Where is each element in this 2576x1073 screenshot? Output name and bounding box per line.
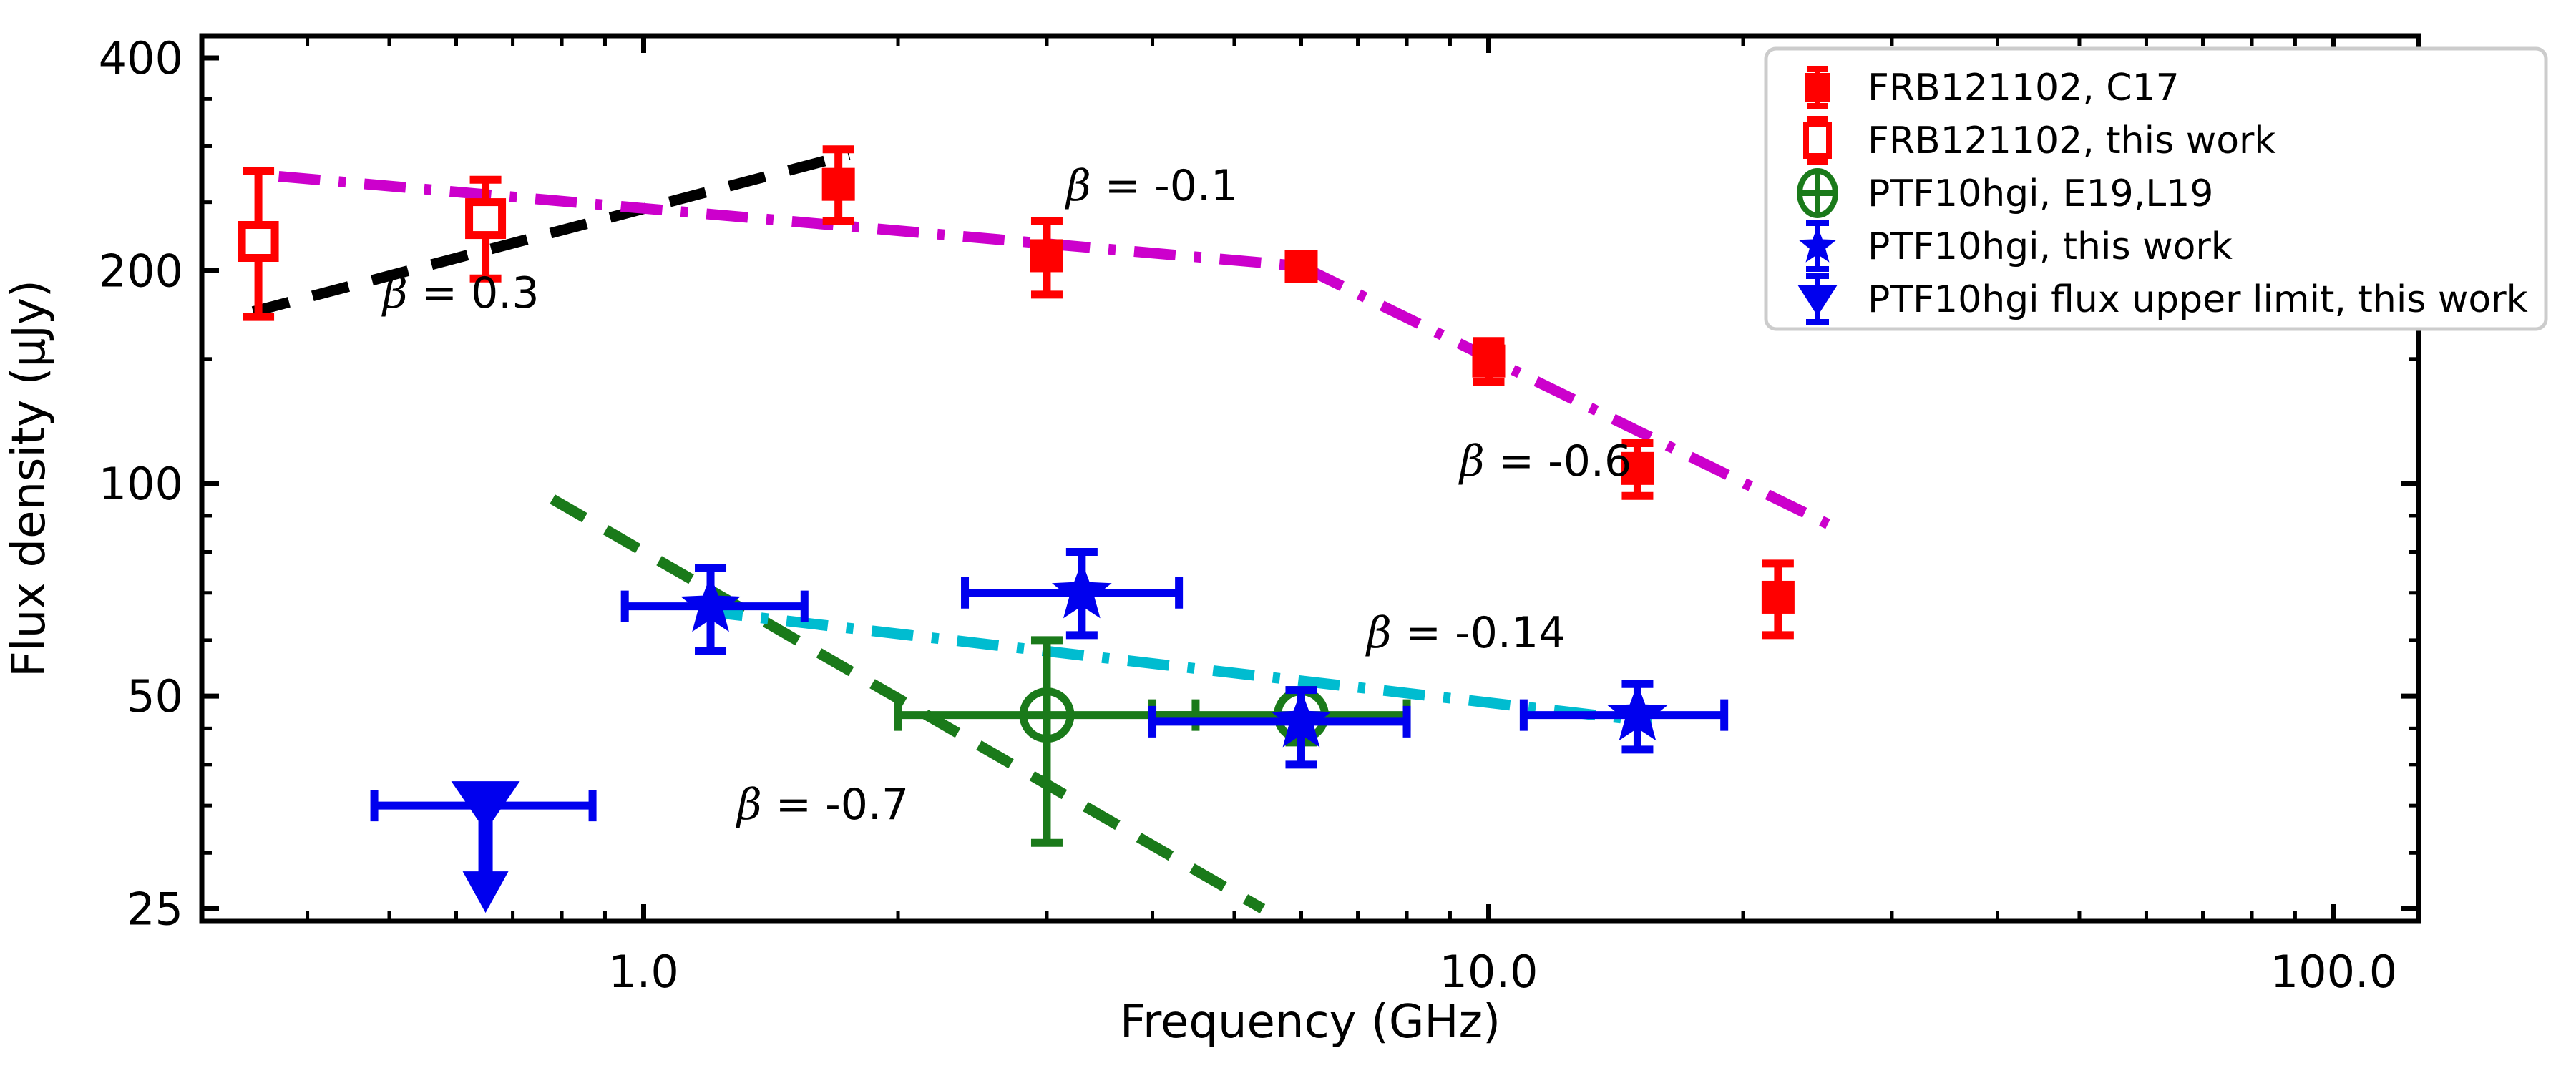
marker-filled-square [1284,250,1317,283]
legend-label: FRB121102, this work [1868,119,2276,162]
data-point [1472,341,1505,383]
legend-label: PTF10hgi, E19,L19 [1868,172,2213,215]
data-point [822,150,855,221]
series-2 [898,640,1407,843]
legend-item-1[interactable]: FRB121102, this work [1806,119,2276,162]
legend-label: PTF10hgi, this work [1868,225,2233,268]
legend-item-4[interactable]: PTF10hgi flux upper limit, this work [1797,276,2528,322]
y-axis-label: Flux density (μJy) [3,280,56,677]
spectral-energy-distribution-plot: 1.010.0100.0 2550100200400 Frequency (GH… [0,0,2576,1073]
data-point [898,640,1196,843]
series-4 [374,781,592,913]
data-point [1523,684,1724,750]
marker-open-square [469,202,502,235]
x-tick-label: 1.0 [608,946,679,998]
series-3 [625,552,1724,764]
data-point [625,567,804,650]
marker-open-square [242,225,275,258]
beta-0p3: β = 0.3 [381,268,540,318]
upper-limit-arrow-icon [463,871,509,913]
legend[interactable]: FRB121102, C17FRB121102, this workPTF10h… [1766,49,2546,329]
beta-annotations-group: β = 0.3β = -0.1β = -0.6β = -0.14β = -0.7 [381,161,1631,830]
data-point [242,171,275,317]
y-tick-label: 100 [99,458,183,510]
y-tick-label: 200 [99,245,183,297]
legend-marker-open-square [1806,124,1829,156]
marker-filled-square [1472,345,1505,378]
x-tick-label: 100.0 [2270,946,2398,998]
legend-label: PTF10hgi flux upper limit, this work [1868,278,2528,321]
data-series-group [242,150,1795,913]
data-point [374,781,592,913]
y-tick-label: 400 [99,32,183,84]
series-0 [822,150,1795,635]
data-point [1284,250,1317,283]
x-tick-label: 10.0 [1439,946,1538,998]
marker-filled-square [1762,581,1795,614]
x-axis-label: Frequency (GHz) [1120,996,1501,1049]
legend-marker-filled-square [1805,73,1830,102]
chart-figure: 1.010.0100.0 2550100200400 Frequency (GH… [0,0,2576,1073]
data-point [965,552,1179,635]
x-tick-labels: 1.010.0100.0 [608,946,2397,998]
beta-m0p6: β = -0.6 [1458,436,1631,486]
beta-m0p7: β = -0.7 [736,780,909,830]
marker-filled-square [1030,239,1063,272]
legend-label: FRB121102, C17 [1868,67,2180,109]
y-tick-label: 50 [127,670,183,722]
marker-filled-square [822,168,855,201]
data-point [1762,564,1795,635]
y-tick-labels: 2550100200400 [99,32,183,935]
beta-m0p1: β = -0.1 [1065,161,1238,211]
beta-m0p14: β = -0.14 [1365,608,1566,658]
data-point [1030,221,1063,295]
y-tick-label: 25 [127,883,183,935]
